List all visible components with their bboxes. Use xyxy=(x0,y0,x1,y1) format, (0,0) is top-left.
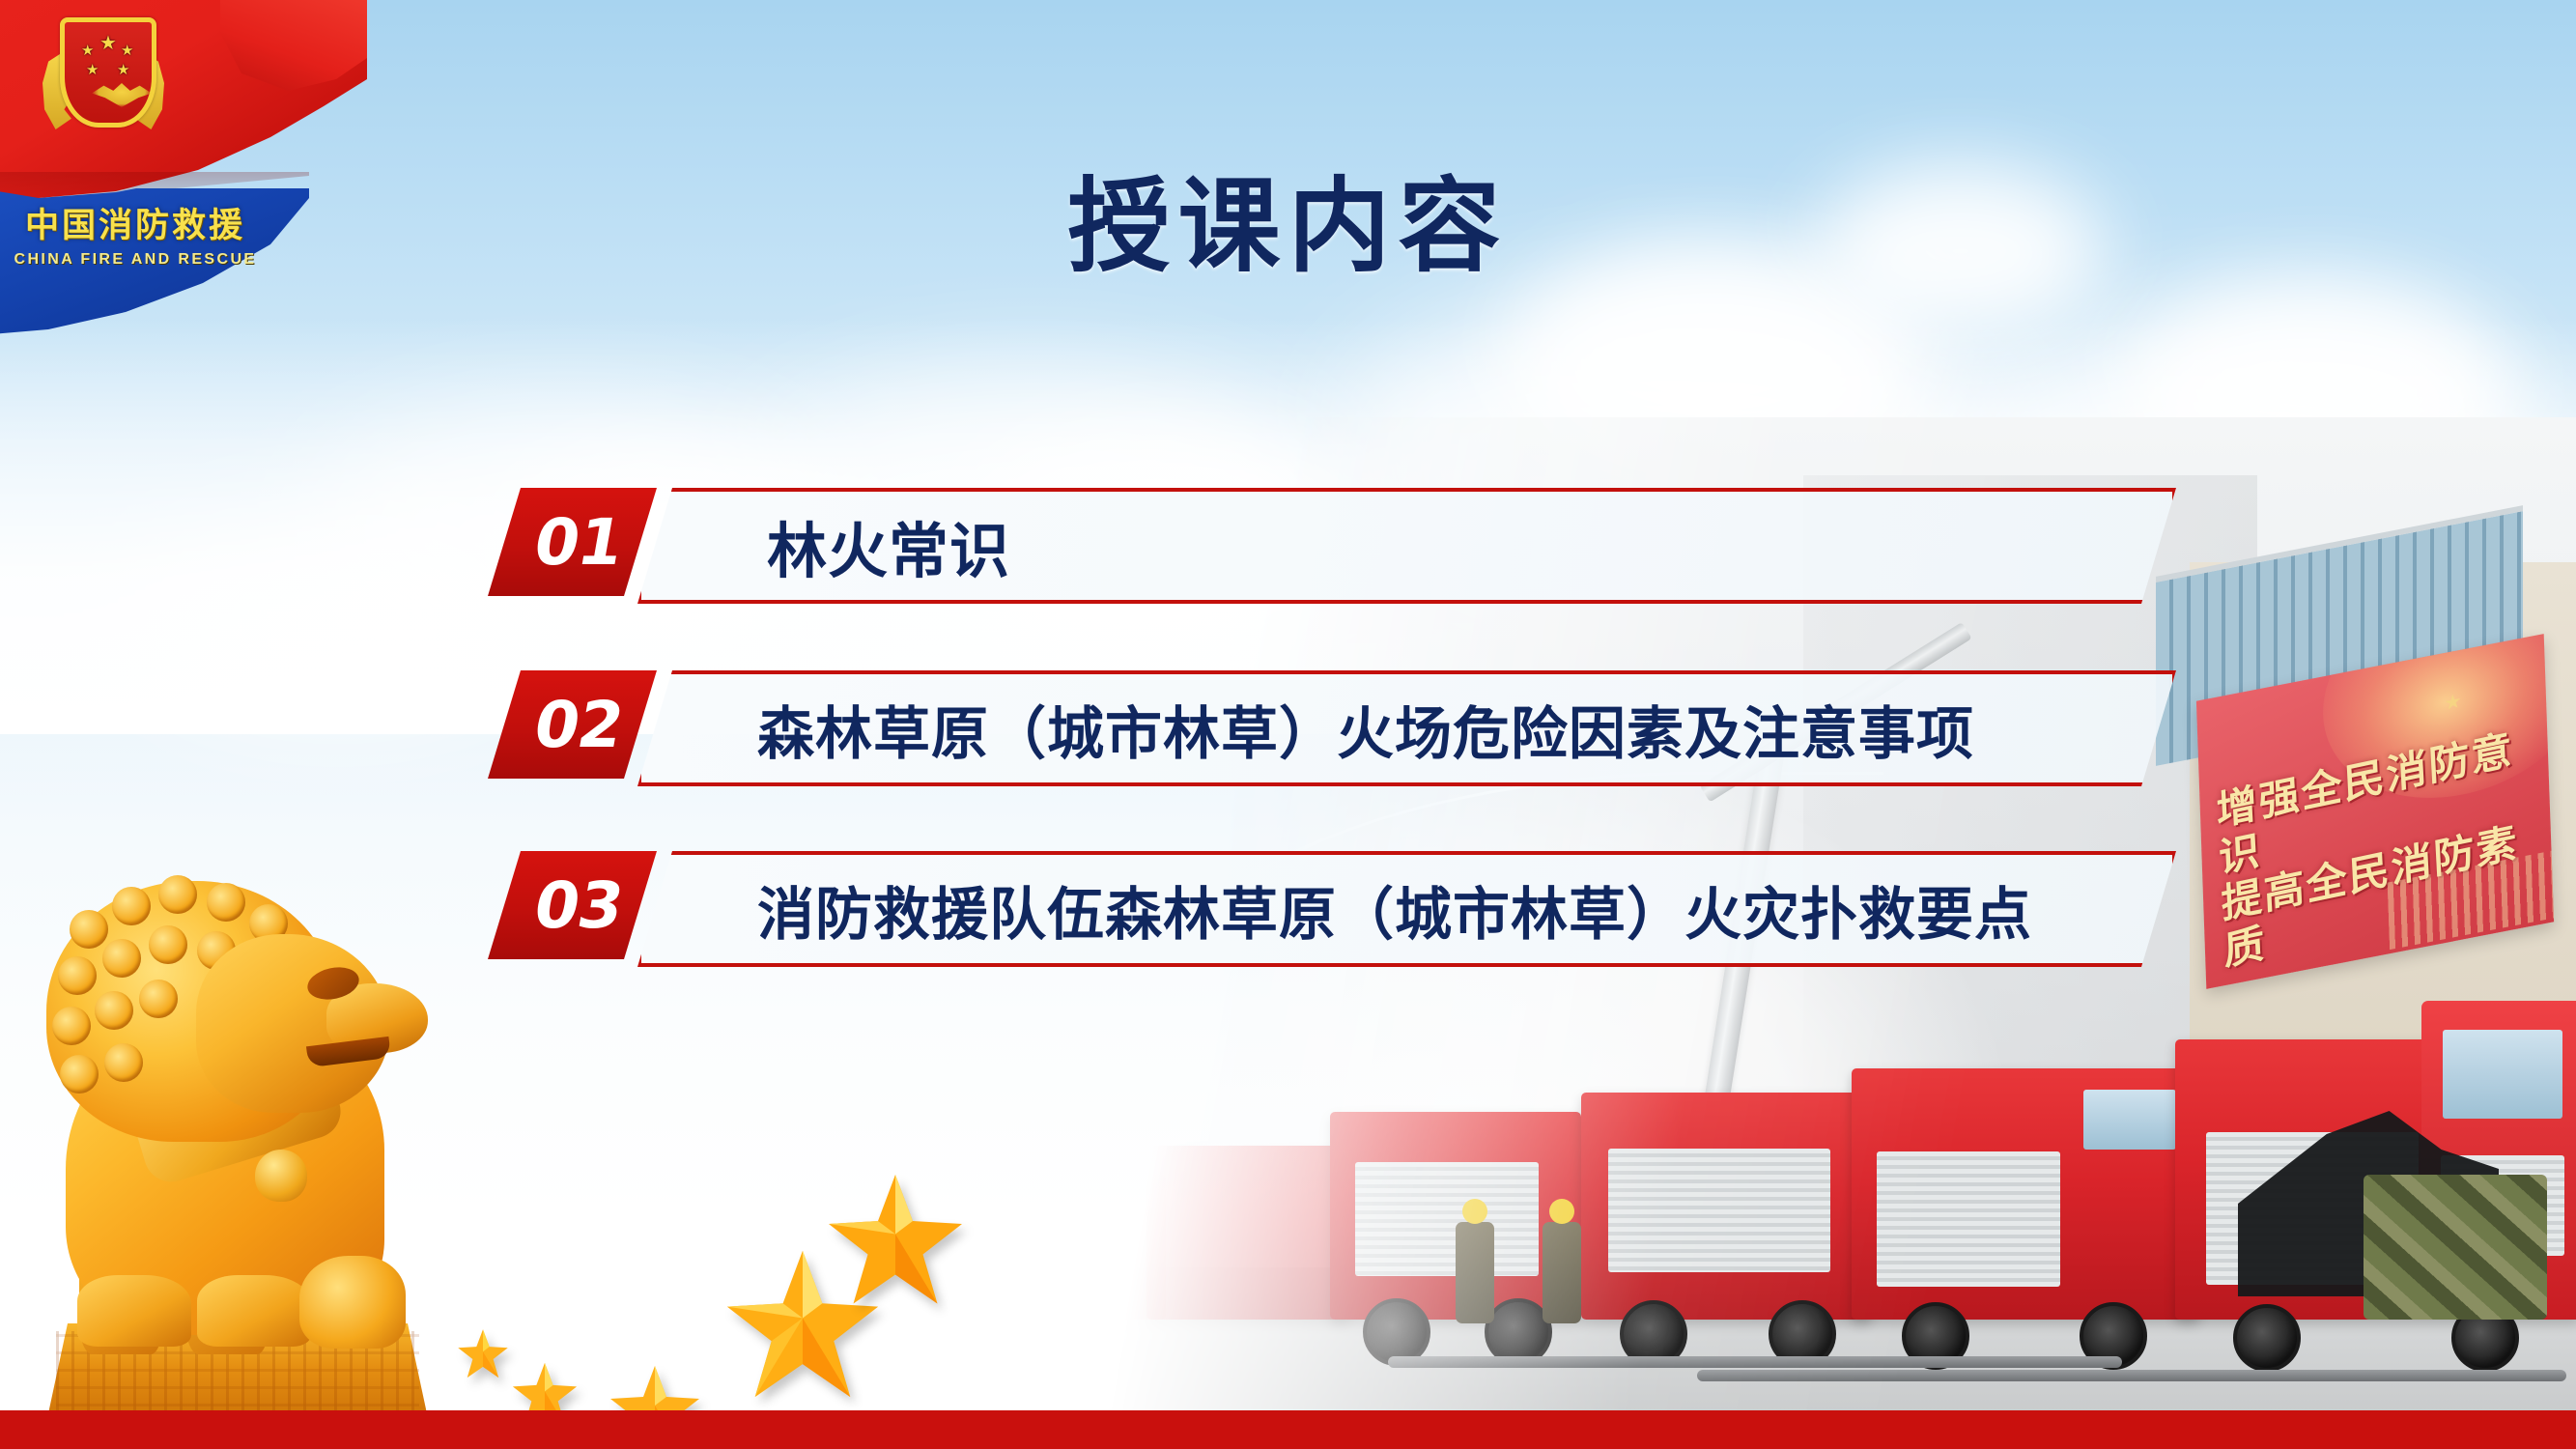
agenda-number-badge: 03 xyxy=(488,851,657,959)
slide-root: ★ ★ ★ ★ ★ 中国消防救援 CHINA FIRE AND RESCUE ★… xyxy=(0,0,2576,1449)
agenda-label: 林火常识 xyxy=(767,502,1010,589)
agenda-label-bar[interactable]: 林火常识 xyxy=(637,488,2176,604)
agenda-number: 01 xyxy=(528,505,628,580)
agenda-number: 02 xyxy=(528,688,628,762)
agenda-number: 03 xyxy=(528,868,628,943)
agenda-number-badge: 01 xyxy=(488,488,657,596)
agenda-label: 森林草原（城市林草）火场危险因素及注意事项 xyxy=(757,688,1974,770)
agenda-label-bar[interactable]: 消防救援队伍森林草原（城市林草）火灾扑救要点 xyxy=(637,851,2176,967)
agenda-label-bar[interactable]: 森林草原（城市林草）火场危险因素及注意事项 xyxy=(637,670,2176,786)
agenda-list: 01 林火常识 02 森林草原（城市林草）火场危险因素及注意事项 03 xyxy=(0,0,2576,1449)
agenda-label: 消防救援队伍森林草原（城市林草）火灾扑救要点 xyxy=(757,868,2032,951)
footer-red-bar xyxy=(0,1410,2576,1449)
agenda-number-badge: 02 xyxy=(488,670,657,779)
